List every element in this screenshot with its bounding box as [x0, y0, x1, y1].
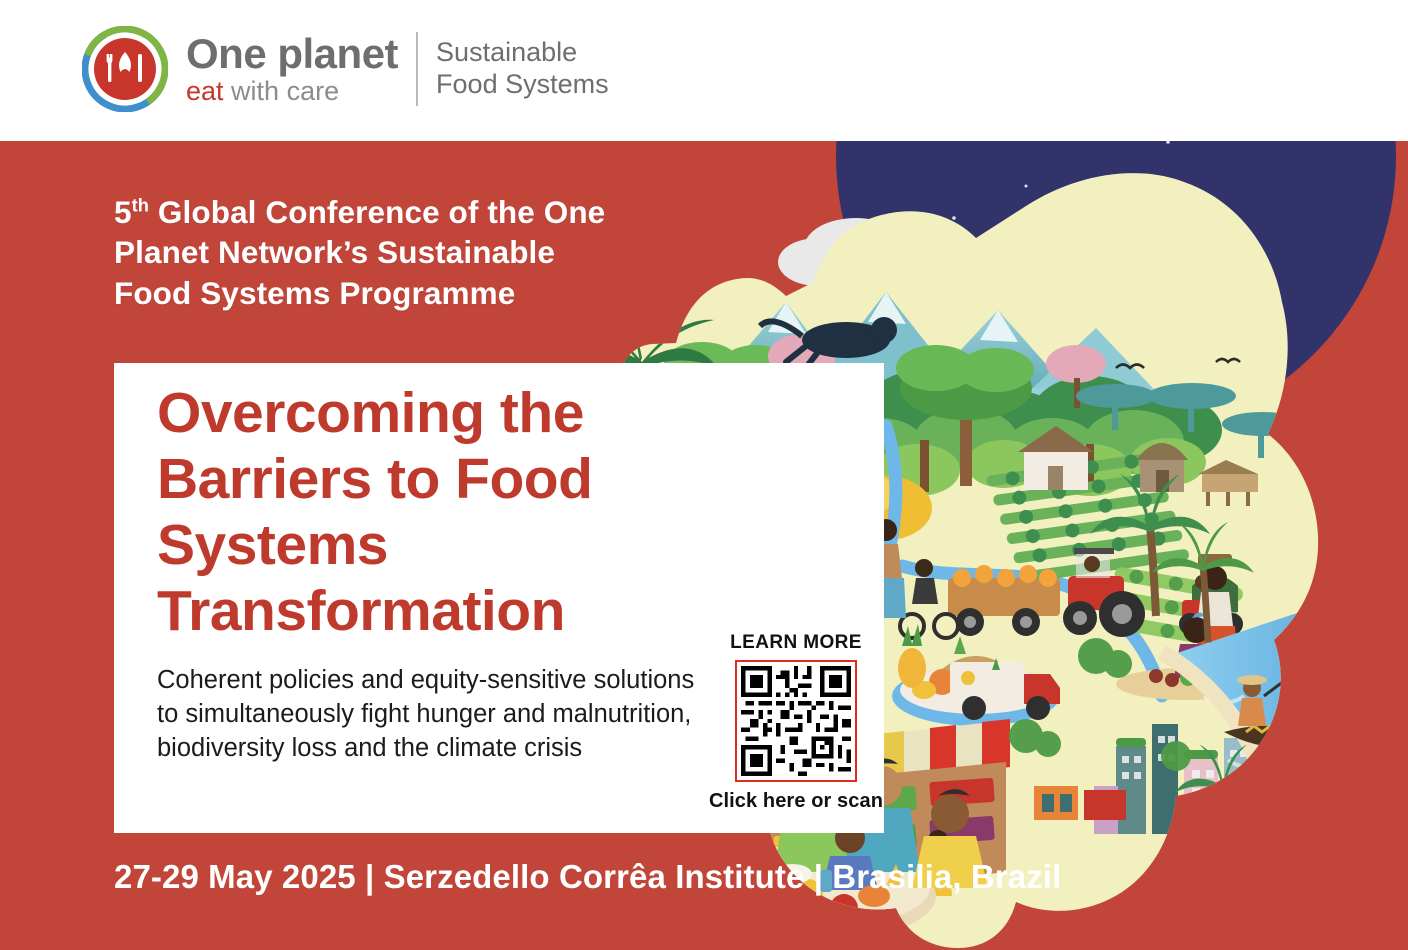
page-title: Overcoming the Barriers to Food Systems …	[157, 380, 657, 644]
qr-label: LEARN MORE	[705, 632, 887, 654]
qr-code[interactable]	[735, 660, 857, 782]
page-subtitle: Coherent policies and equity-sensitive s…	[157, 664, 697, 766]
programme-name: Sustainable Food Systems	[436, 37, 609, 101]
brand-name: One planet	[186, 33, 398, 75]
qr-caption: Click here or scan	[705, 790, 887, 813]
conference-headline: 5th Global Conference of the One Planet …	[114, 192, 634, 313]
macaw	[1232, 768, 1260, 836]
programme-line-2: Food Systems	[436, 69, 609, 101]
brand-wordmark: One planet eat with care Sustainable Foo…	[186, 32, 609, 106]
header-band: One planet eat with care Sustainable Foo…	[0, 0, 1408, 141]
jellyfish	[1344, 613, 1388, 664]
headline-rest: Global Conference of the One Planet Netw…	[114, 194, 605, 311]
brand-tagline-rest: with care	[224, 76, 340, 106]
qr-learn-more-block[interactable]: LEARN MORE	[705, 632, 887, 813]
one-planet-logo-icon	[82, 26, 168, 112]
headline-ordinal-suffix: th	[132, 195, 149, 216]
brand-logo-row: One planet eat with care Sustainable Foo…	[82, 26, 609, 112]
headline-ordinal: 5	[114, 194, 132, 230]
brand-divider	[416, 32, 418, 106]
brand-tagline-eat: eat	[186, 76, 224, 106]
produce-trailer	[900, 559, 1060, 638]
event-details-footer: 27-29 May 2025 | Serzedello Corrêa Insti…	[114, 858, 1061, 896]
brand-tagline: eat with care	[186, 78, 398, 105]
monkey	[674, 260, 720, 279]
programme-line-1: Sustainable	[436, 37, 609, 69]
